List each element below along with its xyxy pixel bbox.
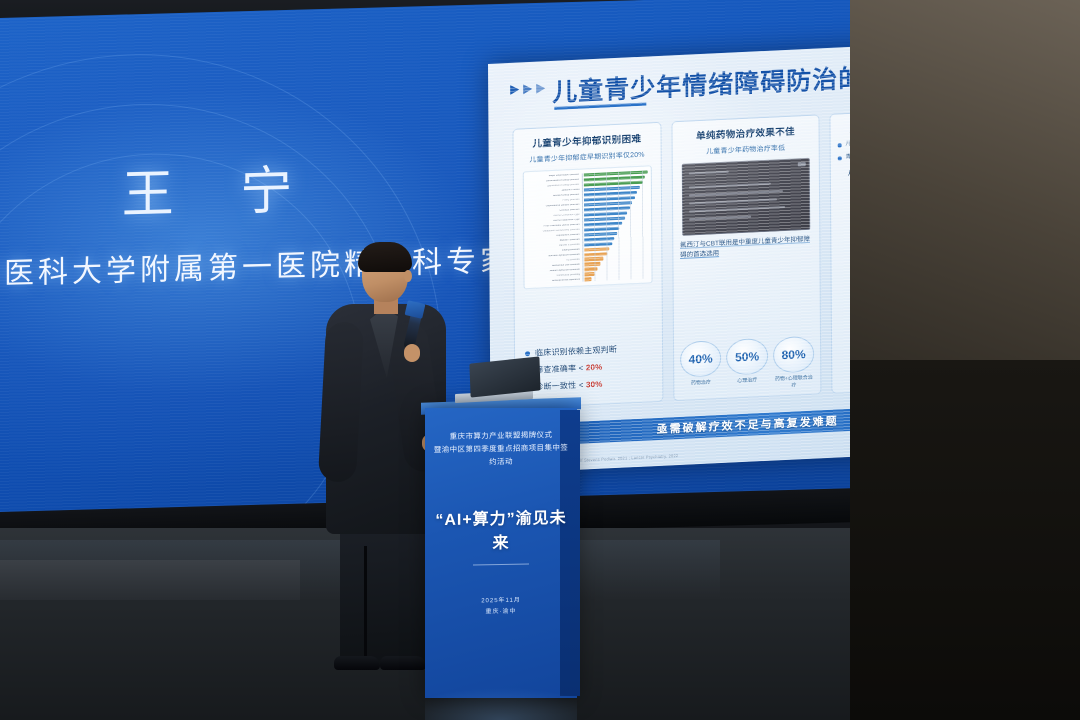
speaker-ear [404, 270, 412, 282]
speaker-hair [358, 242, 412, 272]
venue-right-wall-shadow [850, 360, 1080, 720]
podium-headline-line2: 暨渝中区第四季度重点招商项目集中签约活动 [433, 442, 569, 470]
speaker-leg-seam [364, 546, 367, 656]
podium-light-wave [425, 650, 577, 720]
speaker-legs [340, 528, 432, 666]
speaker-shoe-right [380, 656, 426, 670]
stage-scene: 王 宁 庆医科大学附属第一医院精神科专家 王 宁 重庆医科大学附属第一医院精神科… [0, 0, 1080, 720]
podium-date-block: 2025年11月 重庆·渝中 [433, 595, 569, 620]
speaker-shoe-left [334, 656, 380, 670]
speaker-hand-on-mic [404, 344, 420, 362]
stage-riser-step [0, 560, 300, 600]
podium-location: 重庆·渝中 [433, 606, 569, 620]
backdrop-speaker-name: 王 宁 [0, 143, 470, 231]
podium-slogan: “AI+算力”渝见未来 [435, 510, 566, 552]
podium-event-headline: 重庆市算力产业联盟揭牌仪式 暨渝中区第四季度重点招商项目集中签约活动 [433, 429, 569, 470]
podium-slogan-block: “AI+算力”渝见未来 [433, 504, 569, 566]
